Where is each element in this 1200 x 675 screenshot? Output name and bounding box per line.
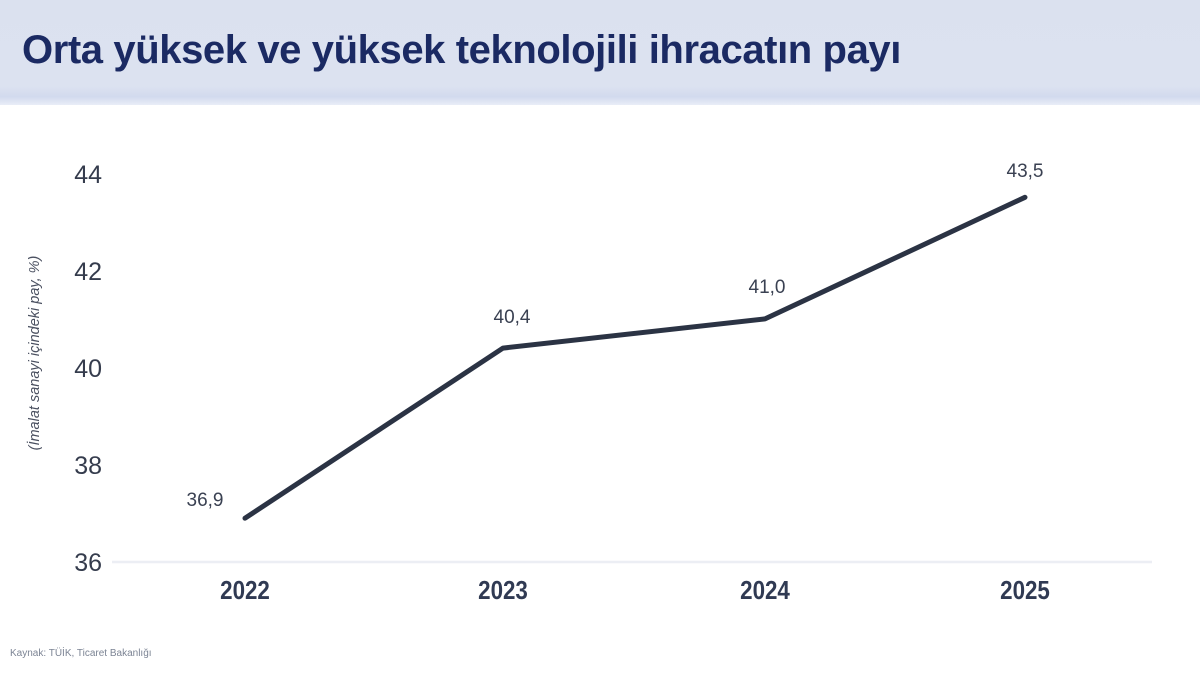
data-point-label: 36,9 <box>150 490 260 512</box>
x-tick-label: 2025 <box>965 575 1085 606</box>
x-tick-label: 2023 <box>443 575 563 606</box>
data-point-label: 43,5 <box>970 161 1080 183</box>
chart-container: (İmalat sanayi içindeki pay, %) 44 42 40… <box>0 105 1200 675</box>
data-point-label: 40,4 <box>457 307 567 329</box>
title-band: Orta yüksek ve yüksek teknolojili ihraca… <box>0 0 1200 105</box>
x-tick-label: 2022 <box>185 575 305 606</box>
source-note: Kaynak: TÜİK, Ticaret Bakanlığı <box>10 648 152 659</box>
data-point-label: 41,0 <box>712 277 822 299</box>
page-title: Orta yüksek ve yüksek teknolojili ihraca… <box>22 28 901 73</box>
x-tick-label: 2024 <box>705 575 825 606</box>
x-axis-tick-labels: 2022 2023 2024 2025 <box>0 105 1200 675</box>
